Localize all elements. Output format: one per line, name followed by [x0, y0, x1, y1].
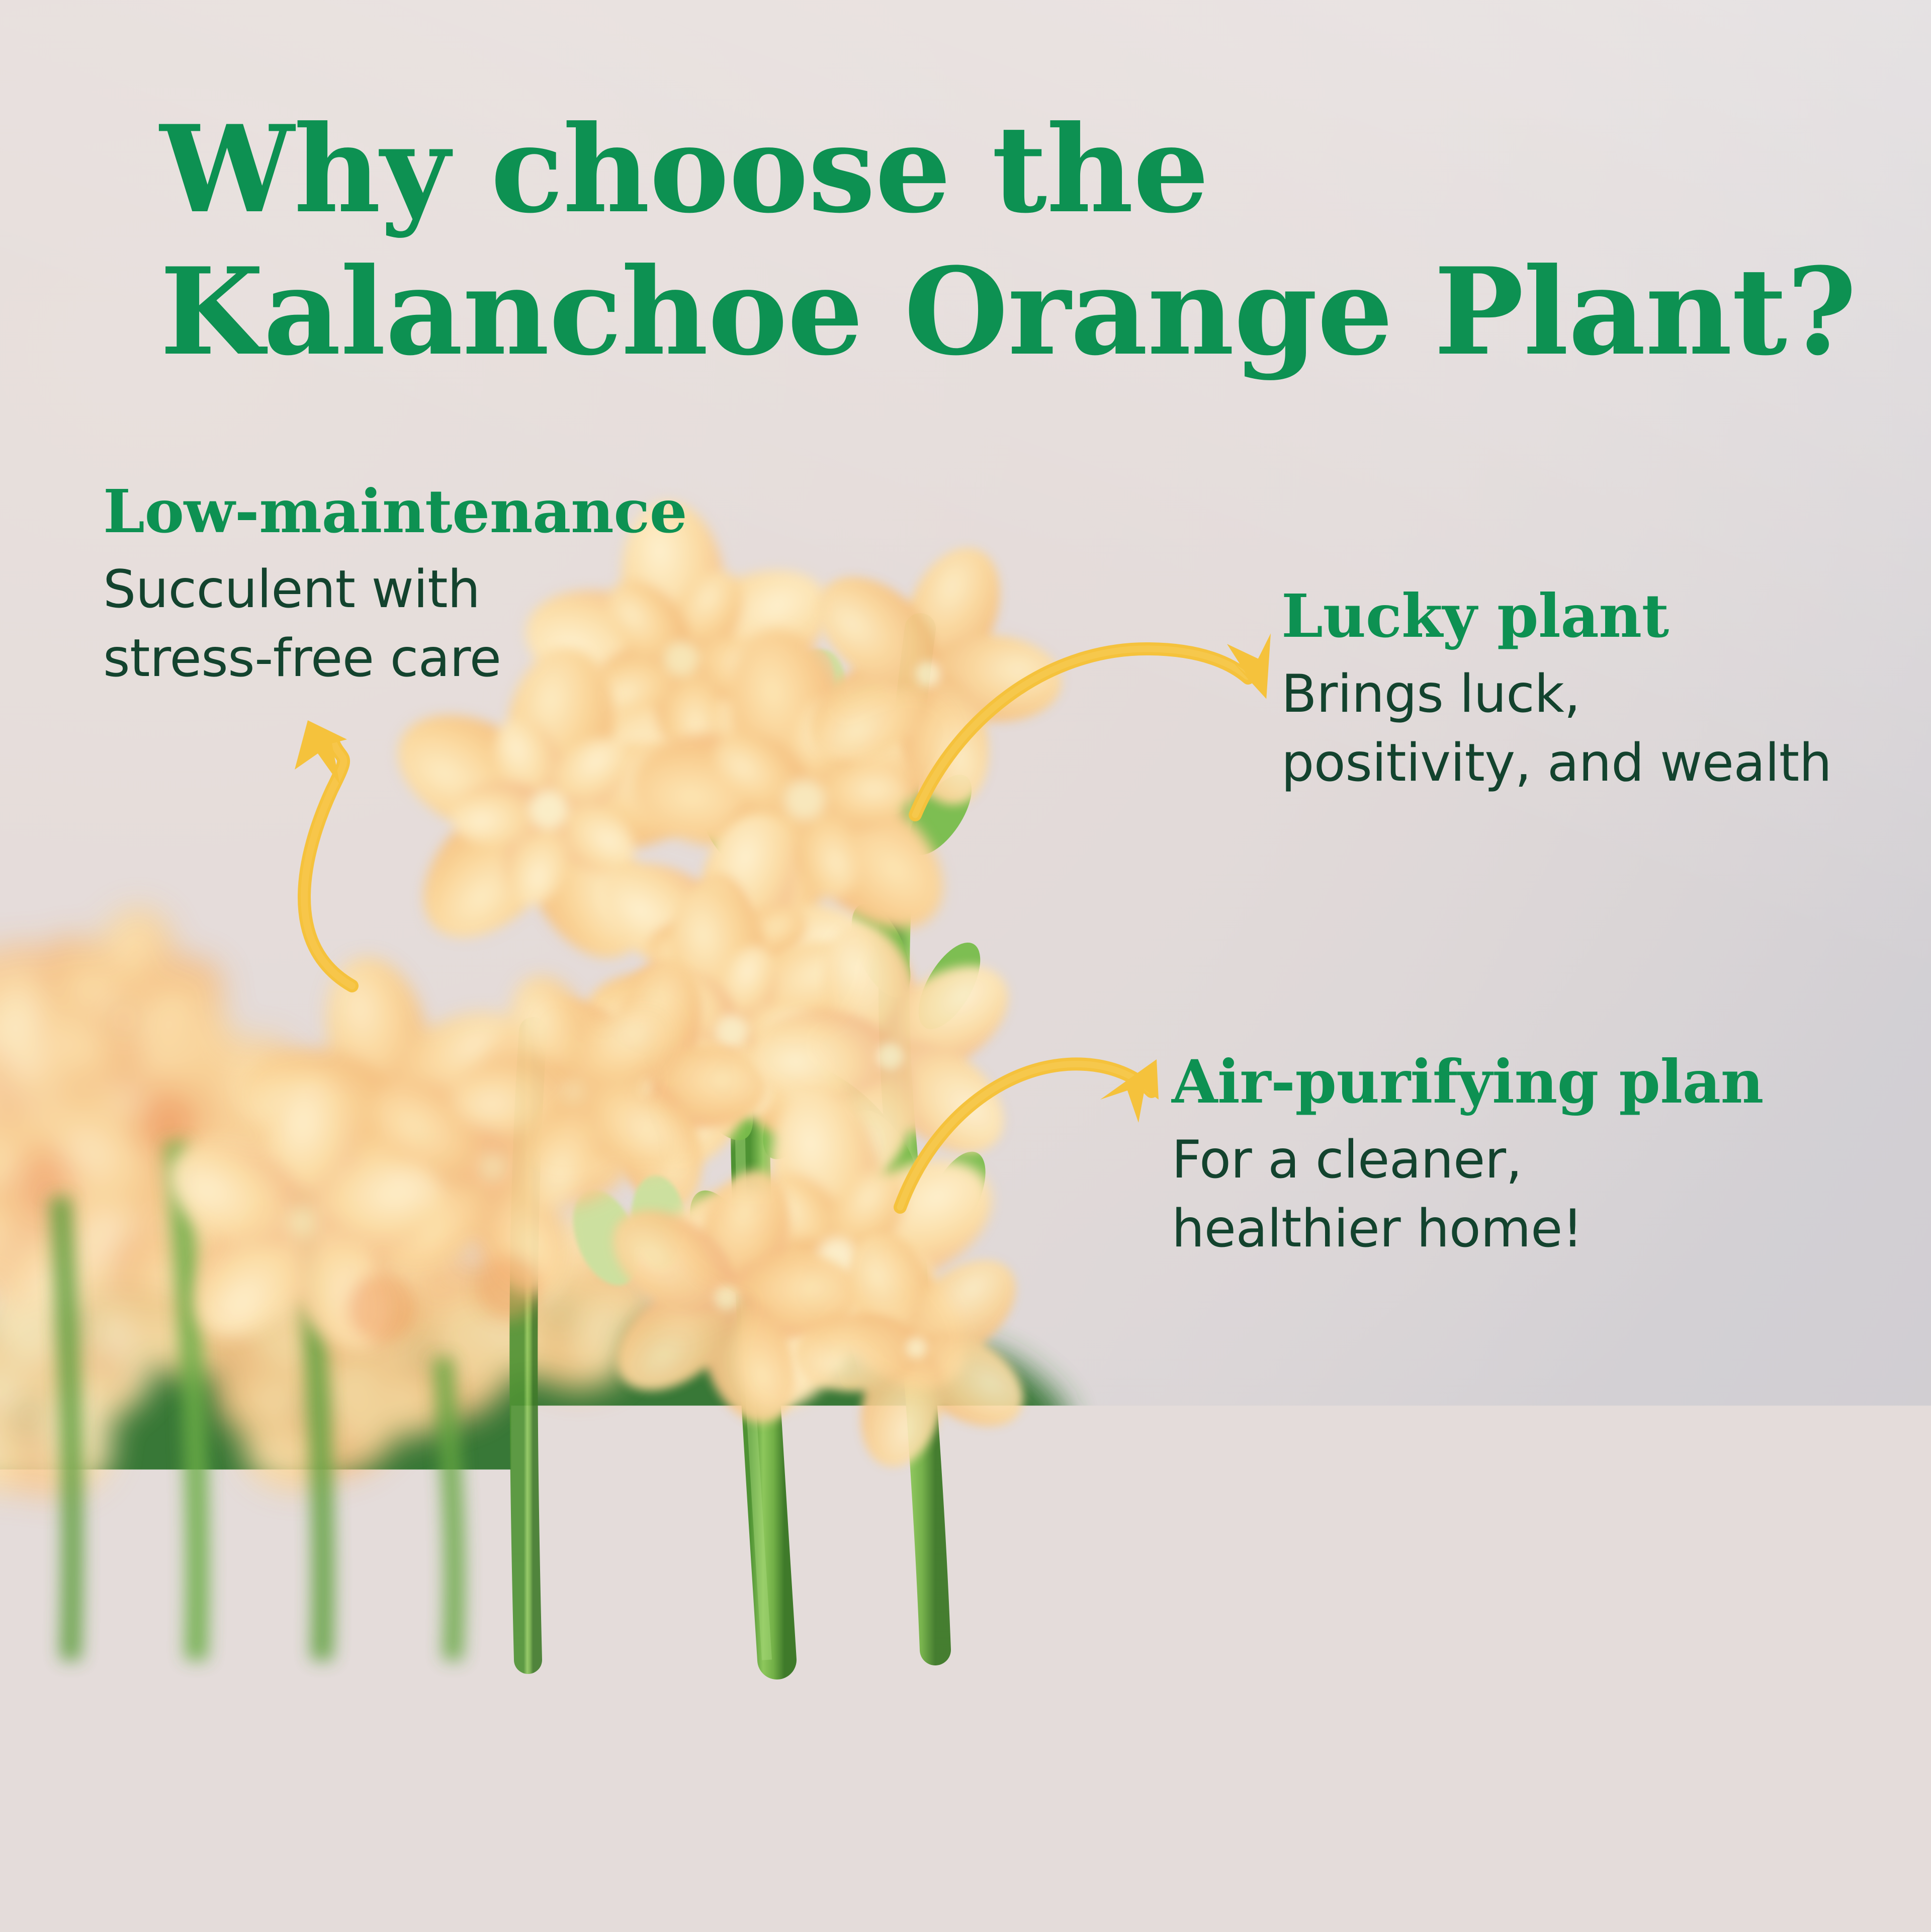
- feature-body-line: positivity, and wealth: [1281, 729, 1831, 798]
- feature-body: Succulent with stress-free care: [103, 555, 687, 693]
- feature-body-line: beauty: [1388, 1679, 1837, 1748]
- feature-heading: Low-maintenance: [103, 479, 687, 544]
- feature-block-lucky-plant: Lucky plant Brings luck, positivity, and…: [1281, 583, 1831, 798]
- feature-body-line: For a cleaner,: [1172, 1126, 1764, 1195]
- feature-body: Flowers that bring long-lasting beauty: [1388, 1541, 1837, 1748]
- feature-body-line: bring long-lasting: [1388, 1610, 1837, 1679]
- feature-heading: Lucky plant: [1281, 583, 1831, 649]
- feature-body: For a cleaner, healthier home!: [1172, 1126, 1764, 1264]
- feature-body-line: Succulent with: [103, 555, 687, 624]
- feature-heading: Chic decor: [1388, 1465, 1837, 1530]
- feature-body: Brings luck, positivity, and wealth: [1281, 660, 1831, 798]
- feature-body-line: stress-free care: [103, 624, 687, 693]
- feature-heading: Air-purifying plan: [1172, 1049, 1764, 1115]
- page-title: Why choose the Kalanchoe Orange Plant?: [160, 99, 1910, 383]
- feature-block-chic-decor: Chic decor Flowers that bring long-lasti…: [1388, 1465, 1837, 1748]
- feature-block-air-purifying: Air-purifying plan For a cleaner, health…: [1172, 1049, 1764, 1264]
- feature-body-line: Brings luck,: [1281, 660, 1831, 729]
- page-title-line-2: Kalanchoe Orange Plant?: [160, 241, 1910, 383]
- feature-body-line: healthier home!: [1172, 1195, 1764, 1264]
- page-title-line-1: Why choose the: [160, 99, 1910, 241]
- feature-body-line: Flowers that: [1388, 1541, 1837, 1610]
- feature-block-low-maintenance: Low-maintenance Succulent with stress-fr…: [103, 479, 687, 693]
